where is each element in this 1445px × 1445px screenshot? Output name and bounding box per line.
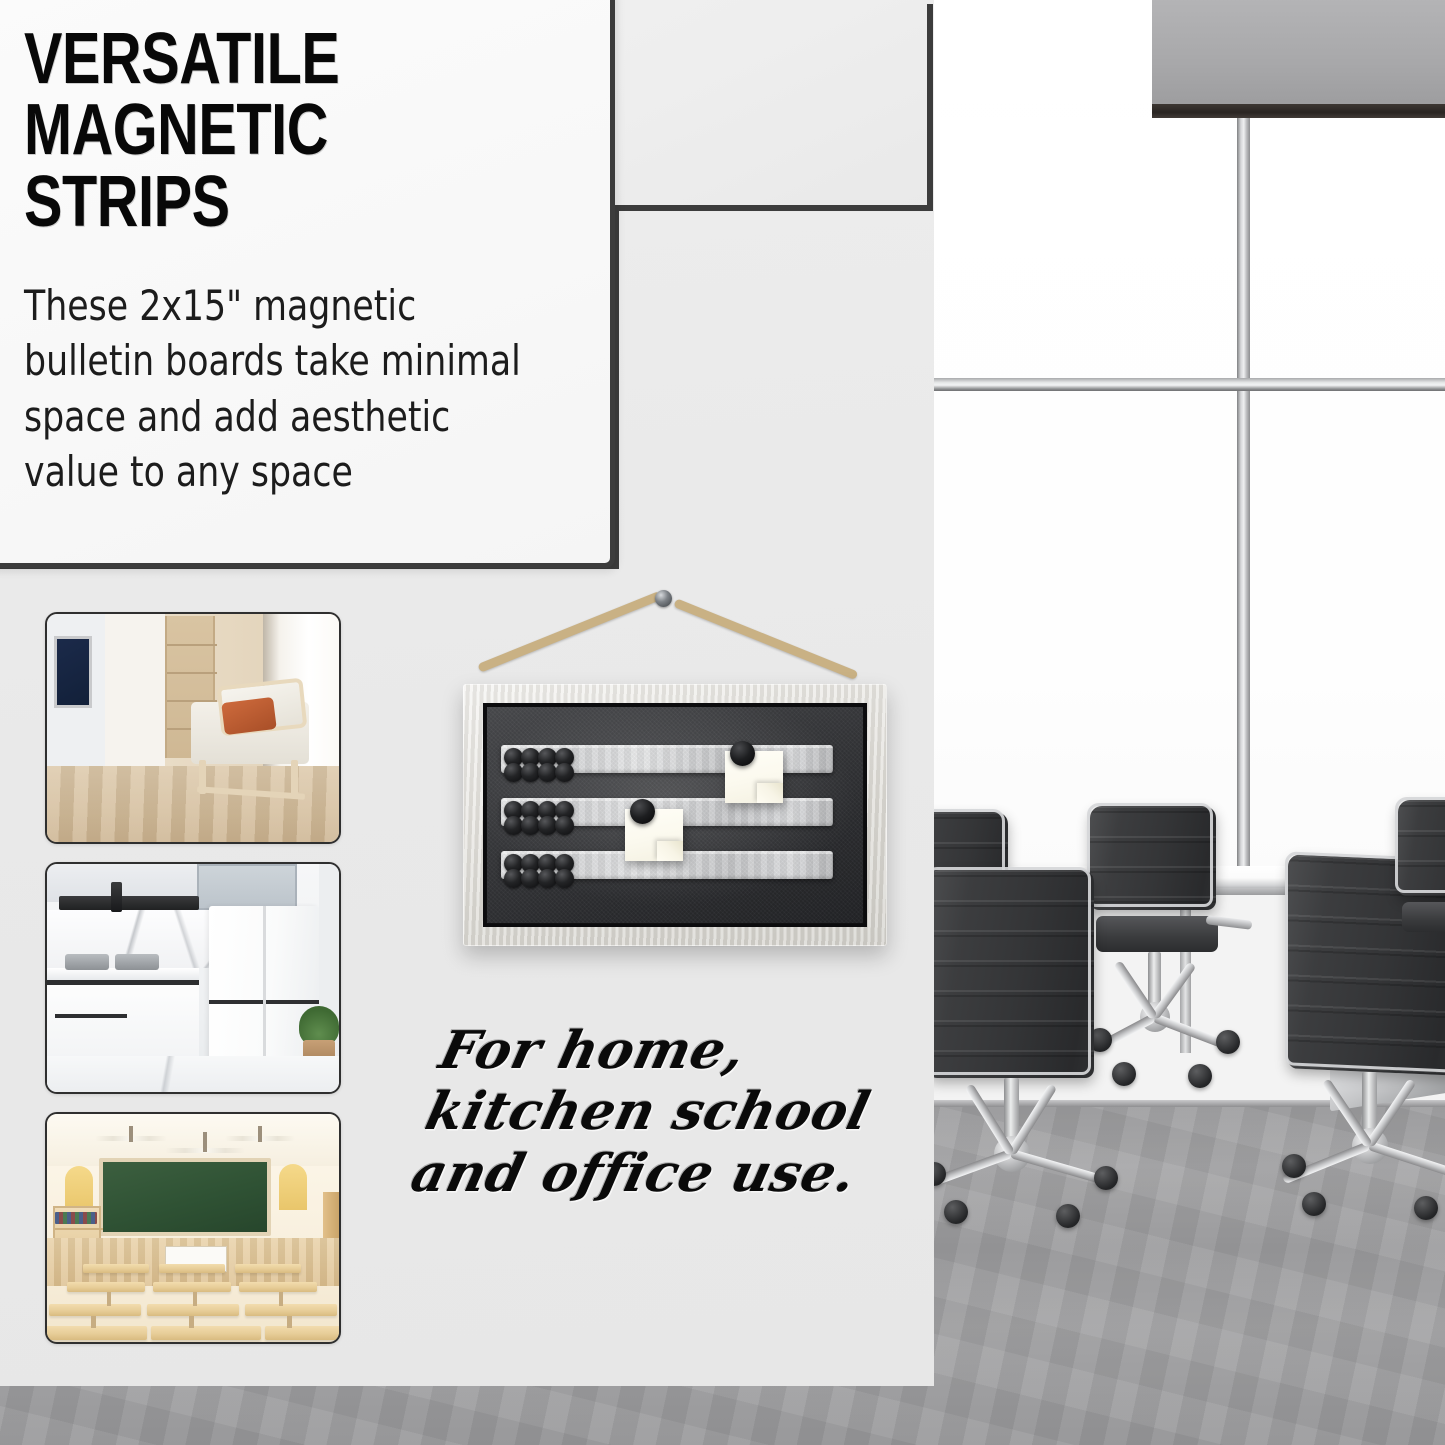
books-row: [55, 1212, 97, 1224]
classroom-desk: [159, 1264, 225, 1273]
gas-stove-burner: [115, 954, 159, 970]
ceiling-fan-rod: [258, 1126, 262, 1142]
window-glass: [930, 118, 1445, 878]
classroom-desk-rows: [47, 1264, 339, 1342]
use-case-thumbnail-list: [45, 612, 341, 1362]
window-mullion-horizontal: [930, 378, 1445, 391]
thumbnail-classroom[interactable]: [45, 1112, 341, 1344]
round-magnet: [555, 816, 574, 835]
armchair-cushion: [221, 697, 277, 735]
gas-stove-burner: [65, 954, 109, 970]
desk-leg: [189, 1316, 194, 1328]
desk-leg: [193, 1292, 197, 1306]
ceiling-dark-band: [1152, 104, 1445, 118]
magnet-cluster: [504, 801, 572, 831]
classroom-desk: [67, 1282, 145, 1292]
page-title: VERSATILE MAGNETIC STRIPS: [24, 24, 466, 238]
note-magnet: [730, 741, 755, 766]
wall-art-icon: [54, 636, 92, 708]
magnet-cluster: [504, 854, 572, 884]
wall-nail-icon: [655, 590, 672, 607]
thumbnail-kitchen[interactable]: [45, 862, 341, 1094]
round-magnet: [555, 869, 574, 888]
classroom-desk: [153, 1282, 231, 1292]
magnet-cluster: [504, 748, 572, 778]
classroom-desk: [45, 1326, 147, 1340]
marble-floor: [47, 1056, 339, 1092]
classroom-desk: [151, 1326, 261, 1340]
hanging-rope-left: [477, 591, 662, 673]
chalkboard: [99, 1158, 271, 1236]
refrigerator-display: [111, 882, 122, 912]
classroom-desk: [49, 1304, 141, 1316]
ceiling-fan-rod: [203, 1132, 207, 1152]
thumbnail-living-room[interactable]: [45, 612, 341, 844]
text-callout-card: VERSATILE MAGNETIC STRIPS These 2x15" ma…: [0, 0, 615, 568]
kitchen-glass-cabinet: [197, 864, 297, 910]
note-magnet: [630, 799, 655, 824]
product-description: These 2x15" magnetic bulletin boards tak…: [24, 278, 532, 500]
classroom-desk: [239, 1282, 317, 1292]
cabinet-handle: [55, 1014, 127, 1018]
product-hero-image: [455, 590, 895, 960]
desk-leg: [279, 1292, 283, 1306]
poster-canvas: VERSATILE MAGNETIC STRIPS These 2x15" ma…: [0, 0, 1445, 1445]
board-wood-frame: [463, 684, 887, 946]
classroom-desk: [245, 1304, 337, 1316]
desk-leg: [107, 1292, 111, 1306]
classroom-wall-arch: [279, 1164, 307, 1210]
desk-leg: [91, 1316, 96, 1328]
office-chair: [928, 870, 1158, 1200]
range-hood: [59, 896, 199, 910]
hanging-rope-right: [673, 598, 858, 680]
ceiling-fan-rod: [129, 1126, 133, 1142]
window-mullion-vertical: [1237, 118, 1250, 878]
board-inner-bezel: [483, 703, 867, 927]
ceiling-soffit: [1152, 0, 1445, 106]
round-magnet: [555, 763, 574, 782]
desk-leg: [287, 1316, 292, 1328]
office-chair: [1398, 800, 1445, 970]
board-surface: [487, 707, 863, 923]
classroom-desk: [83, 1264, 149, 1273]
handwritten-tagline: For home, kitchen school and office use.: [406, 1020, 938, 1204]
living-room-wall-panel: [105, 614, 165, 774]
classroom-desk: [265, 1326, 341, 1340]
classroom-desk: [235, 1264, 301, 1273]
